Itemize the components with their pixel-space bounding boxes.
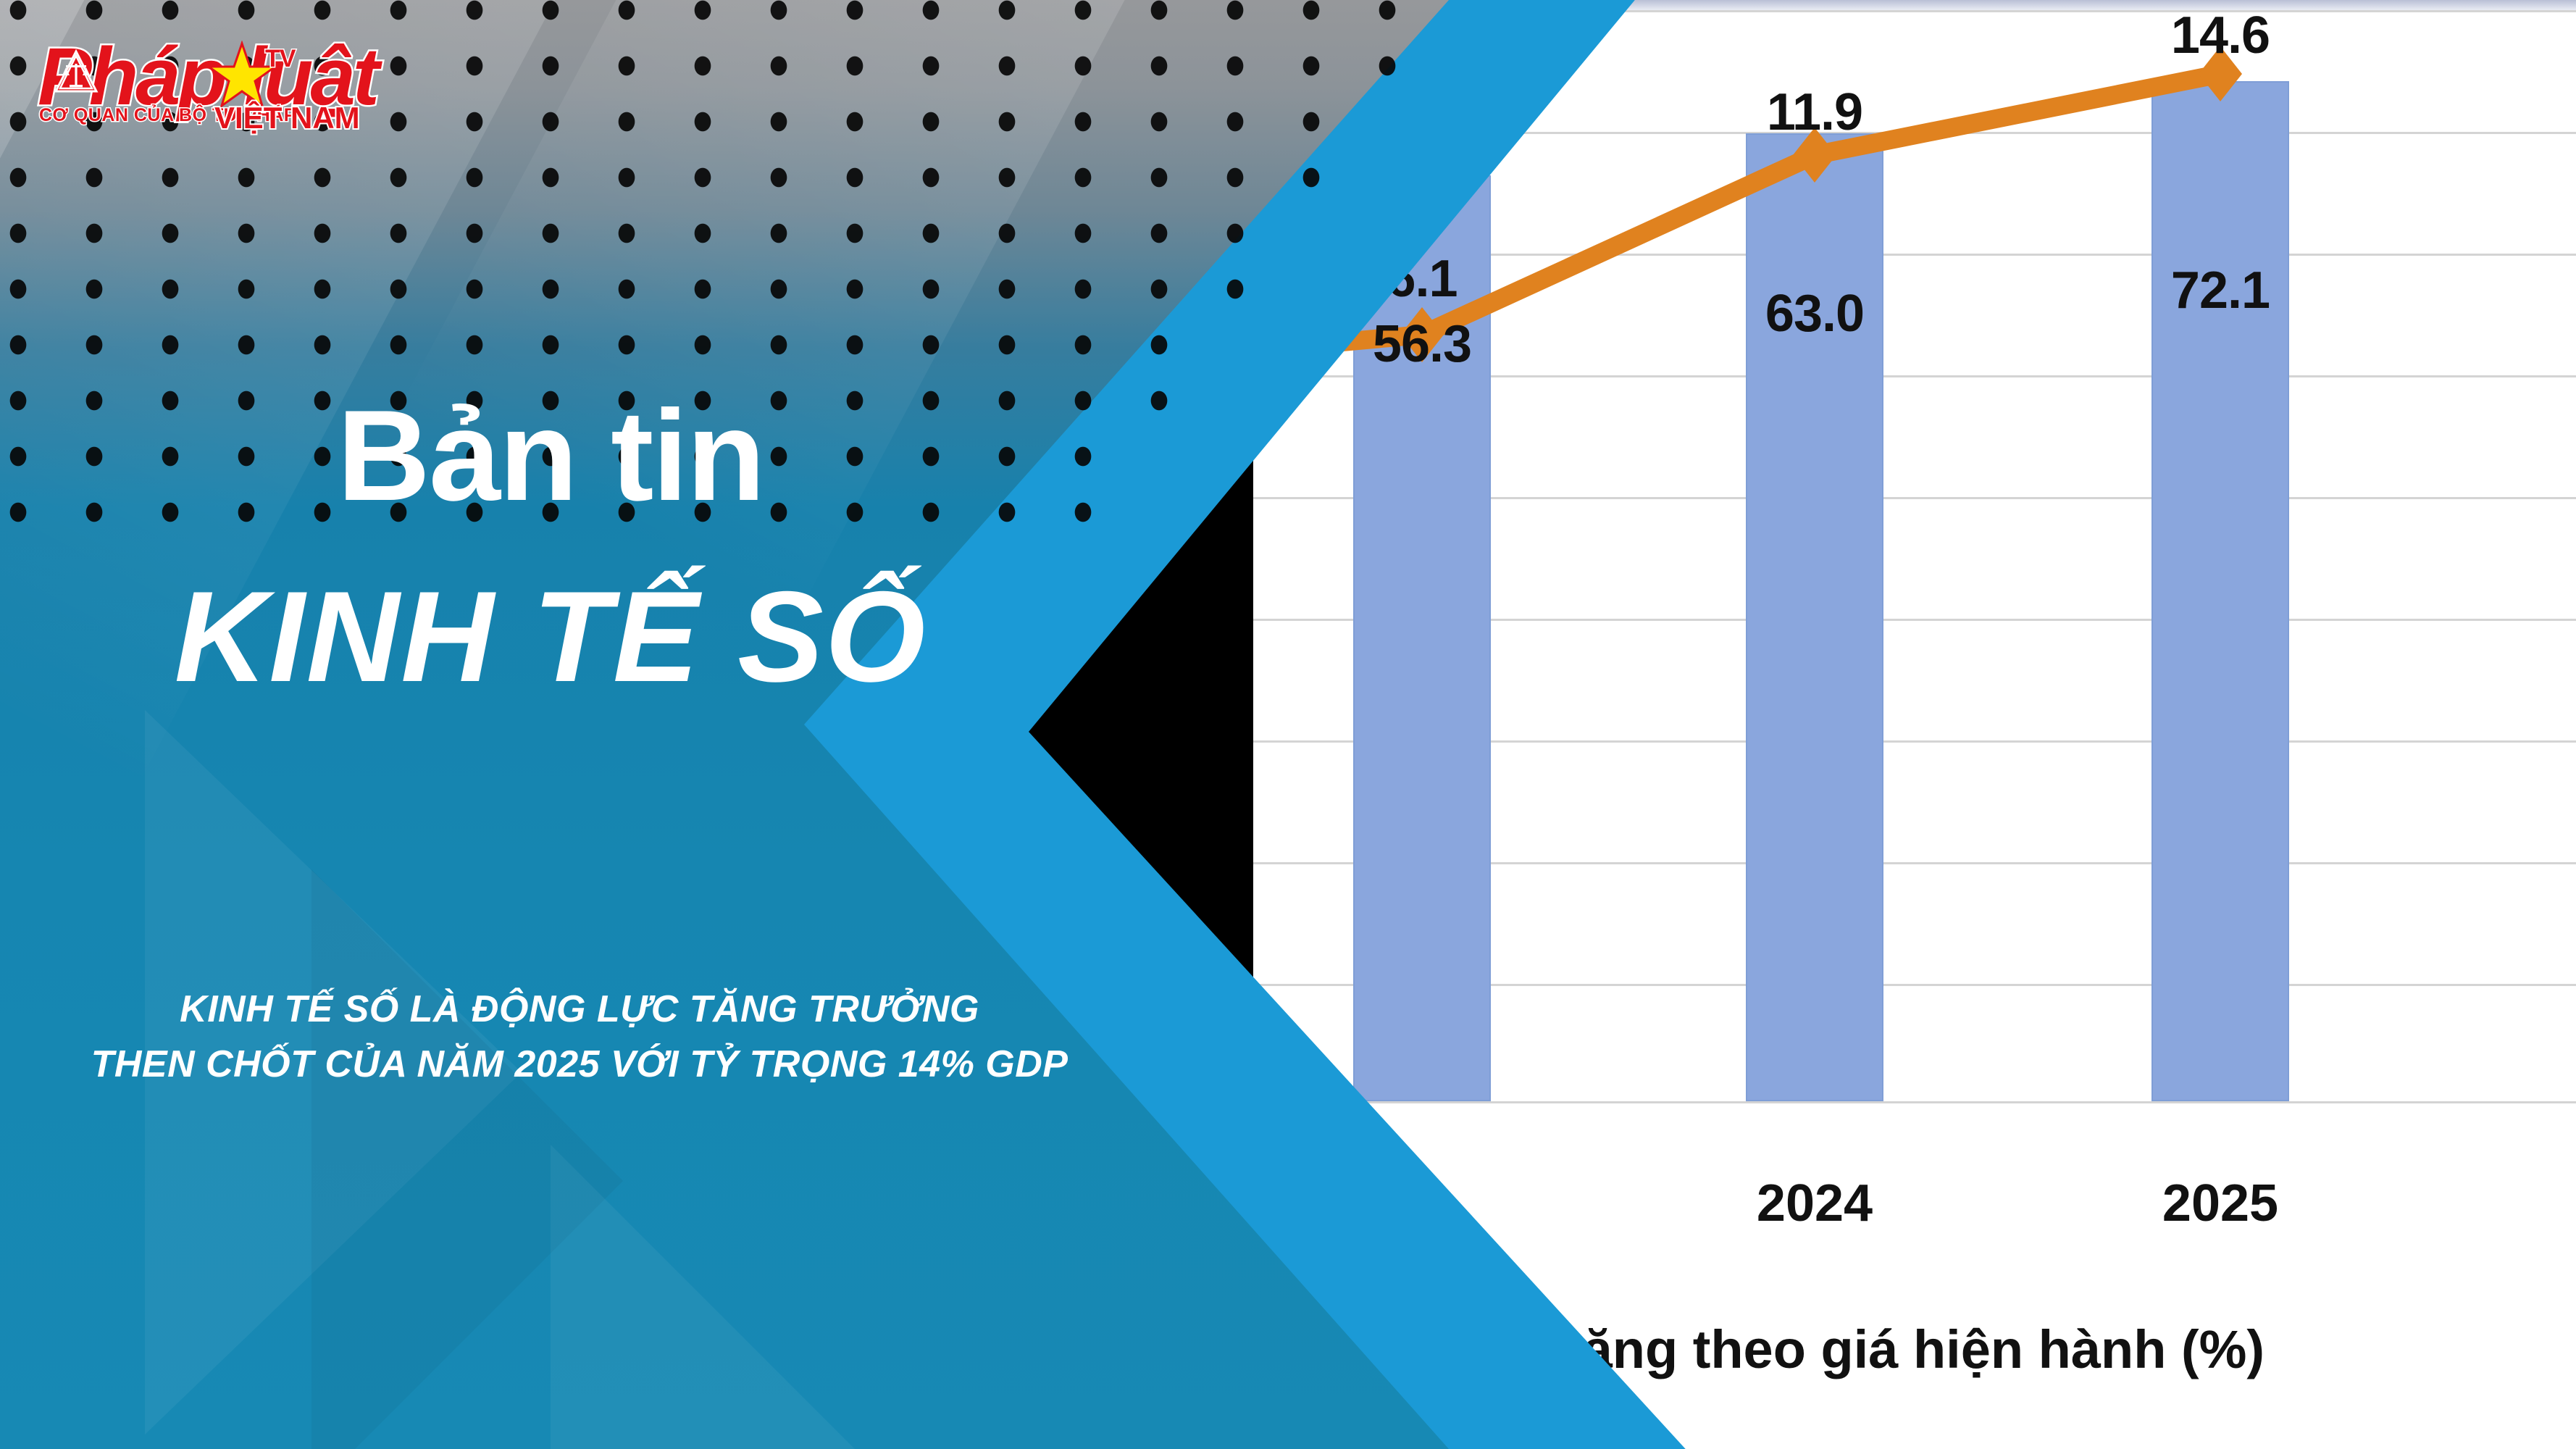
bg-chevron-c [551, 1145, 857, 1449]
bar-value-2025: 72.1 [2144, 261, 2296, 320]
banner-graphic: 56.3 63.0 72.1 6.1 11.9 14.6 2024 2025 t… [0, 0, 2576, 1449]
page-subtitle: KINH TẾ SỐ [0, 572, 1101, 701]
logo-country: VIỆT NAM [214, 101, 360, 135]
bar-value-2024: 63.0 [1739, 284, 1891, 343]
scales-of-justice-icon [54, 49, 99, 94]
line-value-2024: 11.9 [1739, 83, 1891, 142]
deck-line-1: KINH TẾ SỐ LÀ ĐỘNG LỰC TĂNG TRƯỞNG [0, 982, 1159, 1037]
deck-text: KINH TẾ SỐ LÀ ĐỘNG LỰC TĂNG TRƯỞNG THEN … [0, 982, 1159, 1092]
deck-line-2: THEN CHỐT CỦA NĂM 2025 VỚI TỶ TRỌNG 14% … [0, 1037, 1159, 1092]
logo[interactable]: Pháp luật TV CƠ QUAN CỦA BỘ TƯ PHÁP VIỆT… [13, 16, 390, 125]
line-value-2025: 14.6 [2144, 6, 2296, 65]
left-banner: Pháp luật TV CƠ QUAN CỦA BỘ TƯ PHÁP VIỆT… [0, 0, 1449, 1449]
page-title: Bản tin [0, 391, 1101, 520]
xtick-2024: 2024 [1739, 1174, 1891, 1233]
xtick-2025: 2025 [2144, 1174, 2296, 1233]
logo-tv-badge: TV [265, 45, 295, 73]
